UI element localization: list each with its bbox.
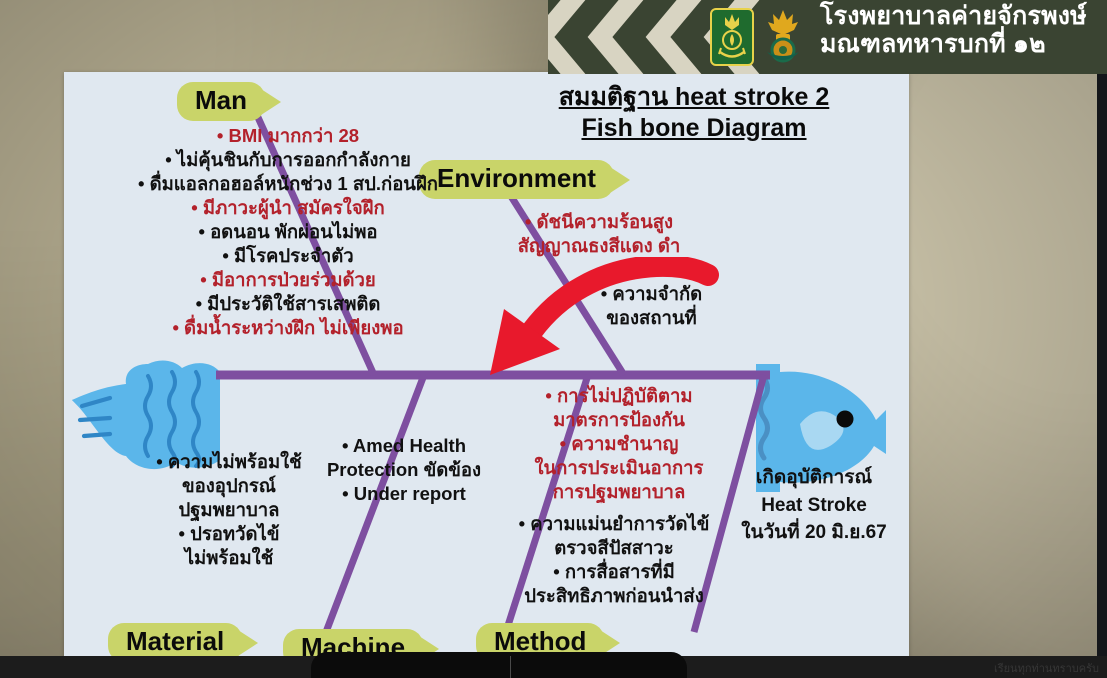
royal-thai-army-emblem	[708, 6, 756, 68]
screenshot-root: โรงพยาบาลค่ายจักรพงษ์ มณฑลทหารบกที่ ๑๒	[0, 0, 1107, 678]
garuda-emblem	[760, 6, 806, 68]
diagram-title-line2: Fish bone Diagram	[581, 113, 806, 144]
footer-right-text: เรียนทุกท่านทราบครับ	[994, 659, 1099, 677]
banner-text-block: โรงพยาบาลค่ายจักรพงษ์ มณฑลทหารบกที่ ๑๒	[820, 2, 1087, 58]
diagram-title-line1: สมมติฐาน heat stroke 2	[559, 82, 830, 113]
cause-line: สัญญาณธงสีแดง ดำ	[454, 234, 744, 258]
presentation-slide: สมมติฐาน heat stroke 2 Fish bone Diagram…	[64, 72, 909, 660]
cause-line: มาตรการป้องกัน	[474, 408, 764, 432]
cause-line: • มีประวัติใช้สารเสพติด	[78, 292, 498, 316]
cause-line: • อดนอน พักผ่อนไม่พอ	[78, 220, 498, 244]
cause-line: ไม่พร้อมใช้	[94, 546, 364, 570]
cause-line: • การไม่ปฏิบัติตาม	[474, 384, 764, 408]
cause-line: • มีภาวะผู้นำ สมัครใจฝึก	[78, 196, 498, 220]
cause-list-environment-top: • ดัชนีความร้อนสูงสัญญาณธงสีแดง ดำ	[454, 210, 744, 258]
banner-title-line2: มณฑลทหารบกที่ ๑๒	[820, 30, 1087, 58]
cause-line: • ดัชนีความร้อนสูง	[454, 210, 744, 234]
cause-line: • BMI มากกว่า 28	[78, 124, 498, 148]
cause-line: ของสถานที่	[544, 306, 759, 330]
cause-line: • มีอาการป่วยร่วมด้วย	[78, 268, 498, 292]
right-edge-strip	[1097, 74, 1107, 656]
bottom-pill-divider	[510, 656, 511, 678]
cause-line: ของอุปกรณ์	[94, 474, 364, 498]
cause-line: • ดื่มน้ำระหว่างฝึก ไม่เพียงพอ	[78, 316, 498, 340]
cause-line: ปฐมพยาบาล	[94, 498, 364, 522]
effect-line3: ในวันที่ 20 มิ.ย.67	[719, 519, 909, 547]
effect-line1: เกิดอุบัติการณ์	[719, 464, 909, 492]
hospital-banner: โรงพยาบาลค่ายจักรพงษ์ มณฑลทหารบกที่ ๑๒	[548, 0, 1107, 74]
cause-list-material: • ความไม่พร้อมใช้ของอุปกรณ์ปฐมพยาบาล• ปร…	[94, 450, 364, 570]
cause-line: • ปรอทวัดไข้	[94, 522, 364, 546]
category-badge-man[interactable]: Man	[177, 82, 265, 121]
cause-line: • มีโรคประจำตัว	[78, 244, 498, 268]
cause-list-man: • BMI มากกว่า 28• ไม่คุ้นชินกับการออกกำล…	[78, 124, 498, 340]
diagram-title: สมมติฐาน heat stroke 2 Fish bone Diagram	[494, 82, 894, 143]
cause-line: • ไม่คุ้นชินกับการออกกำลังกาย	[78, 148, 498, 172]
cause-list-environment-bottom: • ความจำกัดของสถานที่	[544, 282, 759, 330]
banner-emblems	[708, 4, 816, 70]
banner-title-line1: โรงพยาบาลค่ายจักรพงษ์	[820, 2, 1087, 30]
cause-line: • ความไม่พร้อมใช้	[94, 450, 364, 474]
cause-line: • การสื่อสารที่มี	[464, 560, 764, 584]
effect-text-block: เกิดอุบัติการณ์ Heat Stroke ในวันที่ 20 …	[719, 464, 909, 547]
bottom-control-pill[interactable]	[311, 652, 687, 678]
fish-eye	[837, 411, 854, 428]
cause-line: • ความจำกัด	[544, 282, 759, 306]
cause-line: ประสิทธิภาพก่อนนำส่ง	[464, 584, 764, 608]
cause-line: • ดื่มแอลกอฮอล์หนักช่วง 1 สป.ก่อนฝึก	[78, 172, 498, 196]
category-badge-material[interactable]: Material	[108, 623, 242, 660]
effect-line2: Heat Stroke	[719, 492, 909, 520]
